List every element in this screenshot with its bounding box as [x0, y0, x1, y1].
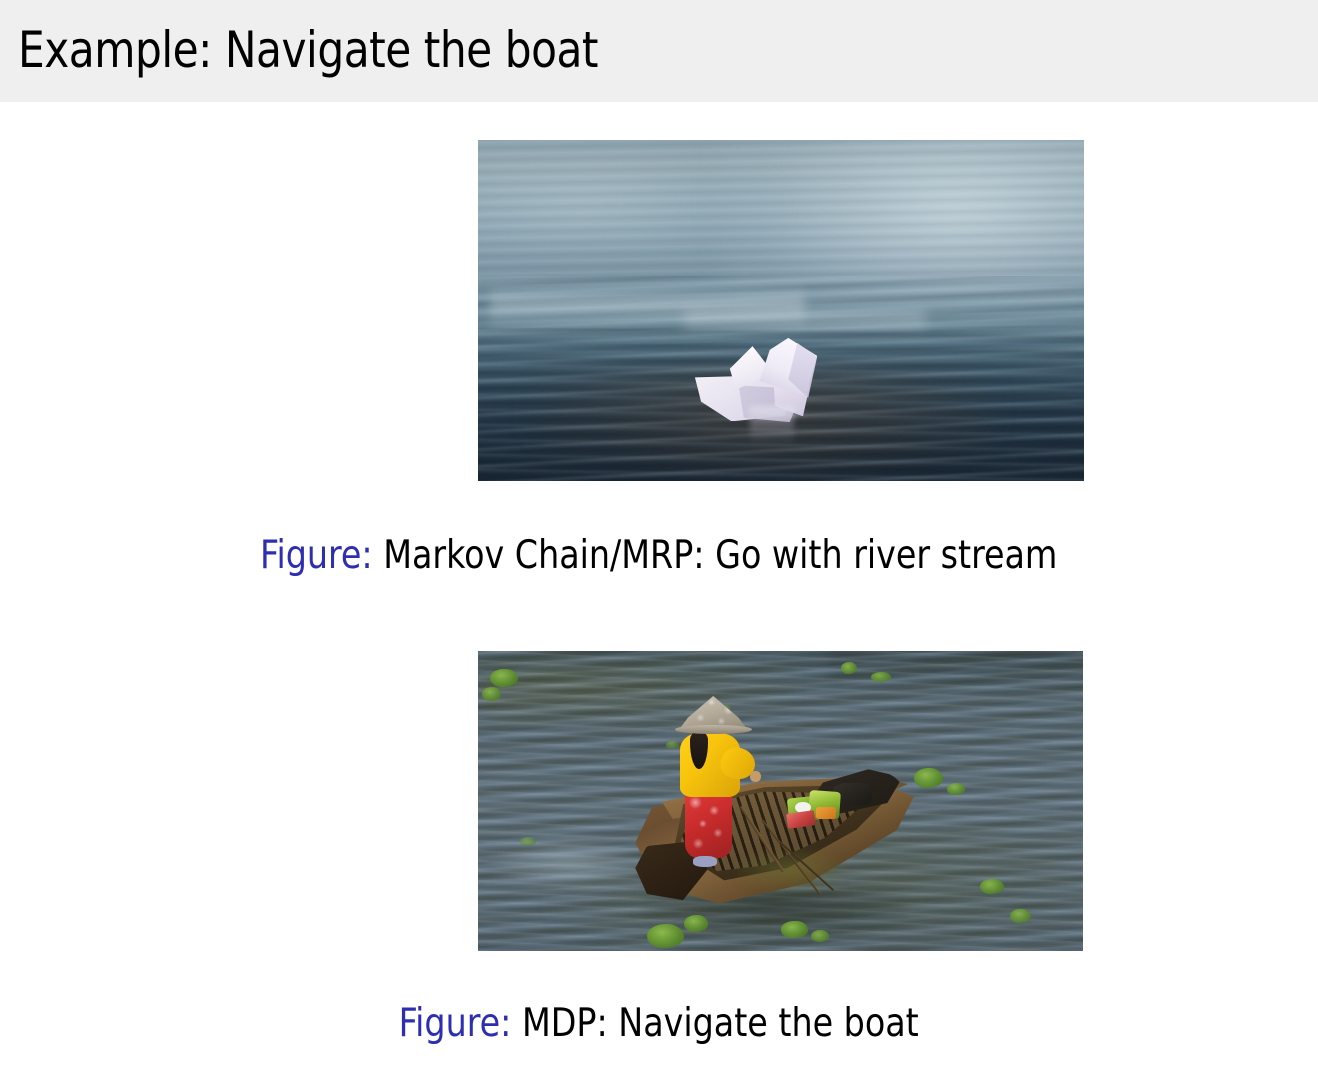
water-hyacinth-plant: [914, 768, 943, 788]
water-hyacinth-plant: [490, 669, 518, 687]
boat-rower-person: [672, 696, 754, 870]
figure-mdp: [478, 651, 1083, 951]
water-hyacinth-plant: [947, 783, 965, 795]
water-hyacinth-plant: [871, 672, 890, 682]
paper-boat: [695, 339, 840, 423]
figure-caption-text-1: Markov Chain/MRP: Go with river stream: [384, 533, 1058, 578]
figure-caption-text-2: MDP: Navigate the boat: [522, 1001, 919, 1046]
rower-patterned-pants: [685, 792, 732, 858]
water-glint-band-secondary: [684, 304, 926, 335]
paper-boat-wake: [739, 408, 809, 416]
figure-label-2: Figure:: [399, 1001, 512, 1046]
water-hyacinth-plant: [1010, 909, 1031, 923]
rower-sandal: [693, 856, 718, 866]
water-hyacinth-plant: [482, 687, 501, 701]
woman-rowing-boat-photo: [478, 651, 1083, 951]
water-hyacinth-plant: [980, 879, 1004, 894]
water-hyacinth-plant: [647, 924, 683, 948]
water-hyacinth-plant: [684, 915, 708, 932]
paper-boat-on-water-photo: [478, 140, 1084, 481]
slide-header-bar: Example: Navigate the boat: [0, 0, 1318, 102]
cargo-orange-box: [816, 807, 835, 819]
figure-label-1: Figure:: [260, 533, 373, 578]
figure-caption-1: Figure: Markov Chain/MRP: Go with river …: [0, 533, 1318, 579]
figure-markov-chain: [478, 140, 1084, 481]
water-hyacinth-plant: [520, 837, 536, 846]
rower-hand: [750, 771, 761, 782]
conical-hat-brim: [675, 725, 752, 735]
water-hyacinth-plant: [841, 662, 857, 674]
page-title: Example: Navigate the boat: [18, 16, 598, 84]
water-hyacinth-plant: [811, 930, 829, 942]
river-foam-wake: [490, 837, 647, 891]
water-hyacinth-plant: [781, 921, 809, 938]
figure-caption-2: Figure: MDP: Navigate the boat: [0, 1001, 1318, 1047]
